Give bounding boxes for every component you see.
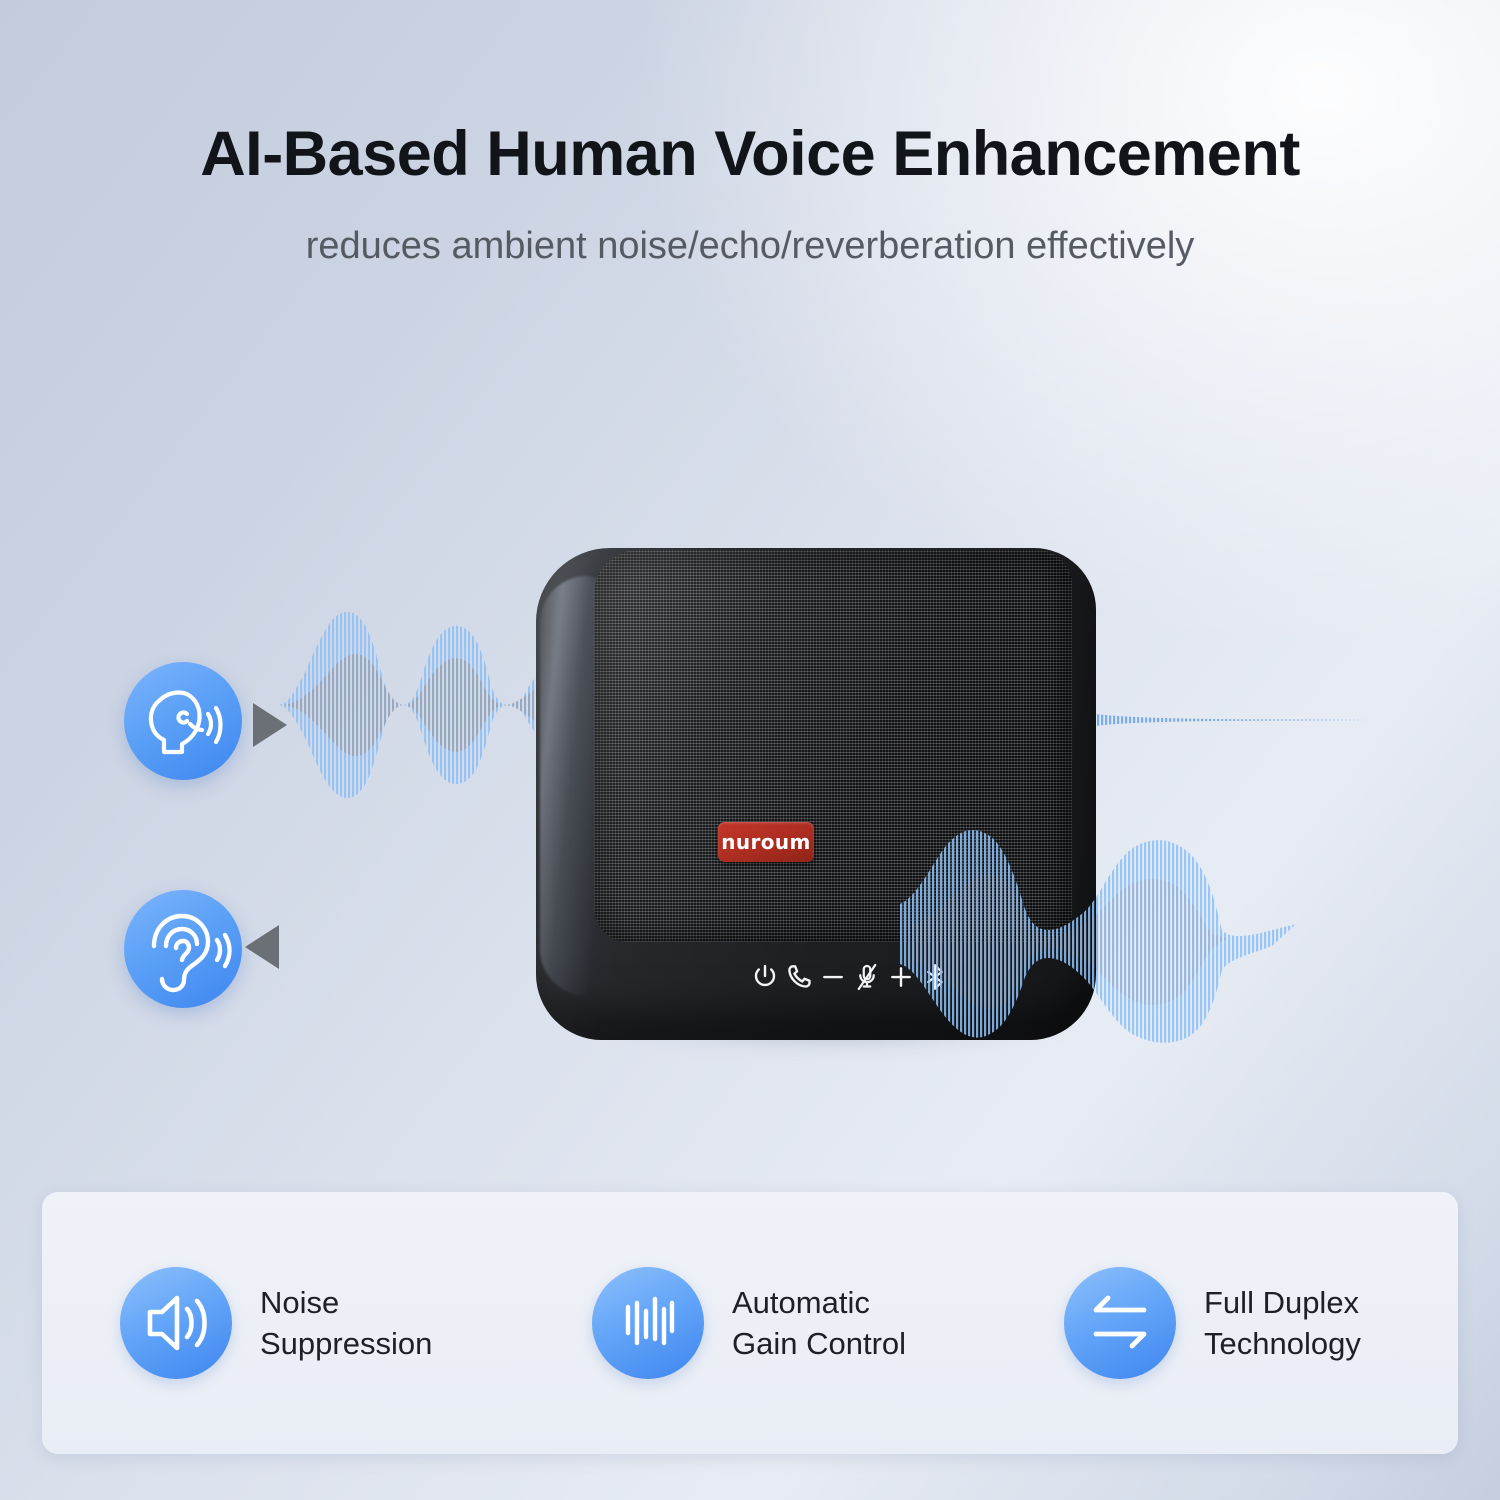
speaking-head-badge [124, 662, 242, 780]
feature-label: Noise Suppression [260, 1282, 432, 1364]
feature-automatic-gain-control: Automatic Gain Control [514, 1267, 986, 1379]
feature-label: Automatic Gain Control [732, 1282, 906, 1364]
speaking-head-icon [124, 662, 242, 780]
feature-label: Full Duplex Technology [1204, 1282, 1361, 1364]
power-button[interactable] [748, 960, 782, 994]
enhanced-output-waveform [900, 818, 1390, 1048]
ear-listening-icon [124, 890, 242, 1008]
feature-noise-suppression: Noise Suppression [42, 1267, 514, 1379]
brand-name: nuroum [721, 830, 811, 854]
call-button[interactable] [782, 960, 816, 994]
speaker-wave-icon [120, 1267, 232, 1379]
page-subtitle: reduces ambient noise/echo/reverberation… [0, 225, 1500, 268]
equalizer-bars-icon [592, 1267, 704, 1379]
feature-full-duplex-technology: Full Duplex Technology [986, 1267, 1458, 1379]
mute-button[interactable] [850, 960, 884, 994]
ear-listening-badge [124, 890, 242, 1008]
brand-badge: nuroum [718, 822, 814, 862]
triangle-left-icon [245, 925, 279, 969]
feature-card: Noise Suppression Automatic Gain Control [42, 1192, 1458, 1454]
page-title: AI-Based Human Voice Enhancement [0, 118, 1500, 190]
product-feature-graphic: AI-Based Human Voice Enhancement reduces… [0, 0, 1500, 1500]
triangle-right-icon [253, 703, 287, 747]
bidirectional-arrows-icon [1064, 1267, 1176, 1379]
volume-down-button[interactable] [816, 960, 850, 994]
